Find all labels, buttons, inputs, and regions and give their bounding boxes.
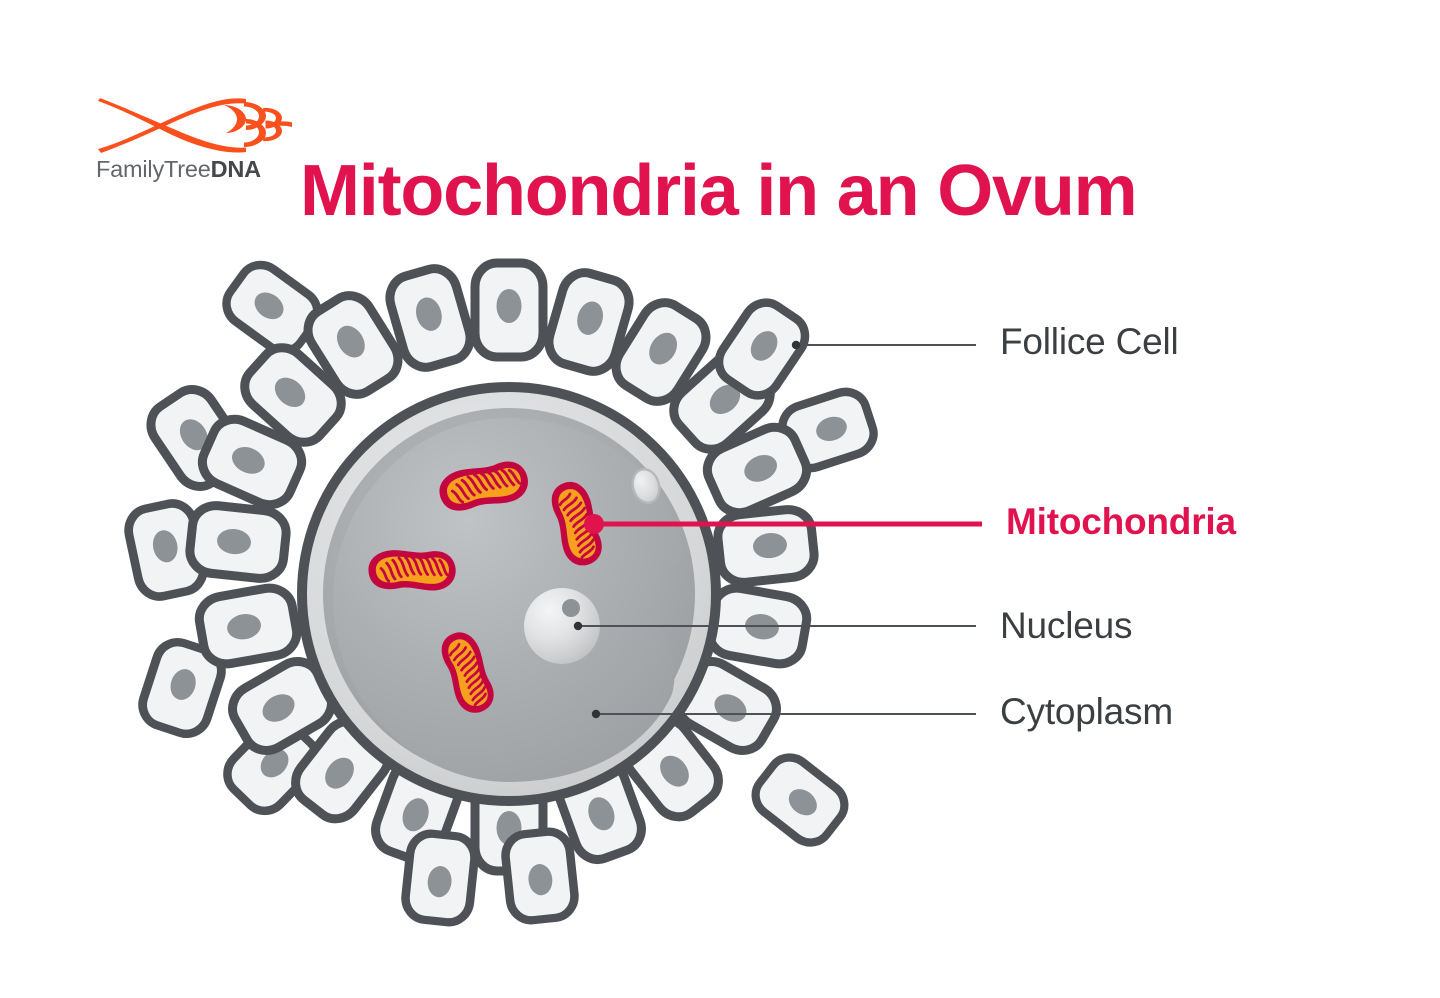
follicle-cell bbox=[503, 830, 576, 923]
follicle-cell bbox=[747, 749, 853, 851]
ovum-diagram-svg bbox=[0, 0, 1440, 998]
callout-label-mitochondria: Mitochondria bbox=[1006, 500, 1236, 544]
ovum-diagram: Follice Cell Mitochondria Nucleus Cytopl… bbox=[0, 0, 1440, 998]
follicle-cell bbox=[188, 503, 289, 580]
follicle-cell bbox=[196, 584, 300, 667]
ovum bbox=[302, 387, 716, 801]
leader-follice-cell bbox=[792, 341, 976, 349]
callout-label-follice-cell: Follice Cell bbox=[1000, 320, 1179, 364]
follicle-cell bbox=[475, 263, 543, 357]
follicle-cell bbox=[403, 832, 476, 925]
nucleolus bbox=[562, 599, 580, 617]
callout-label-nucleus: Nucleus bbox=[1000, 604, 1132, 648]
follicle-cell bbox=[716, 507, 817, 584]
callout-label-cytoplasm: Cytoplasm bbox=[1000, 690, 1173, 734]
